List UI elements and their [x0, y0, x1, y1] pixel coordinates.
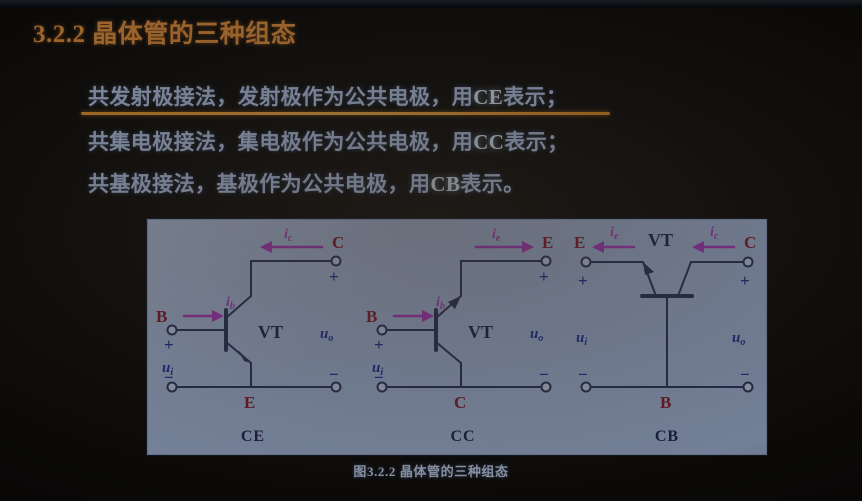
ce-label-ib: ib [226, 295, 235, 312]
body-line-cb-tail: 表示。 [460, 172, 524, 196]
ce-terminal-b [168, 326, 177, 335]
cb-polarity-out-minus: − [740, 365, 750, 384]
cc-polarity-out-plus: + [539, 267, 549, 286]
cb-label-c: C [744, 233, 756, 252]
ce-polarity-in-minus: − [164, 368, 174, 387]
cb-terminal-c [744, 258, 753, 267]
body-line-ce: 共发射极接法，发射极作为公共电极，用CE表示； [88, 81, 567, 111]
page-title-text: 3.2.2 晶体管的三种组态 [33, 21, 296, 48]
cb-label-ie: ie [610, 225, 619, 242]
cc-polarity-in-plus: + [374, 335, 384, 354]
circuit-cc-mode-label: CC [360, 428, 566, 446]
figure-panel: B C E VT ib ic + ui − + uo − CE [147, 219, 767, 455]
slide-canvas: 3.2.2 晶体管的三种组态 共发射极接法，发射极作为公共电极，用CE表示； 共… [0, 0, 862, 501]
circuit-common-base: E C B VT ie ic + ui − + uo − CB [568, 220, 766, 454]
body-line-cc-text: 共集电极接法，集电极作为公共电极，用 [88, 130, 473, 154]
cc-label-b: B [366, 307, 377, 326]
cb-polarity-in-minus: − [578, 365, 588, 384]
body-line-ce-tail: 表示； [503, 85, 567, 109]
ce-terminal-c [332, 257, 341, 266]
cc-label-vt: VT [468, 322, 493, 342]
body-line-cc-emphasis: CC [473, 130, 504, 154]
circuit-common-collector: B E C VT ib ie + ui − + uo − CC [360, 220, 566, 454]
cb-label-ui: ui [576, 330, 587, 348]
body-line-cc: 共集电极接法，集电极作为公共电极，用CC表示； [88, 126, 569, 156]
ce-label-c: C [332, 233, 344, 252]
ce-label-ic: ic [284, 227, 293, 244]
ce-label-b: B [156, 307, 167, 326]
cb-transistor-symbol [642, 262, 692, 296]
ce-polarity-in-plus: + [164, 335, 174, 354]
ce-underline [81, 112, 610, 115]
circuit-ce-mode-label: CE [150, 428, 356, 446]
cc-label-ie: ie [492, 227, 501, 244]
body-line-cb: 共基极接法，基极作为公共电极，用CB表示。 [88, 168, 525, 198]
cc-terminal-e [542, 257, 551, 266]
cc-polarity-in-minus: − [374, 368, 384, 387]
cc-label-e: E [542, 233, 553, 252]
cc-polarity-out-minus: − [539, 365, 549, 384]
cb-arrow-ie [592, 241, 634, 253]
ce-label-uo: uo [320, 326, 333, 344]
cb-arrow-ic [692, 241, 734, 253]
cb-polarity-out-plus: + [740, 271, 750, 290]
circuit-cb-svg: E C B VT ie ic + ui − + uo − [568, 220, 766, 430]
ce-polarity-out-minus: − [329, 365, 339, 384]
figure-caption: 图3.2.2 晶体管的三种组态 [0, 461, 862, 480]
cb-label-uo: uo [732, 330, 745, 348]
body-line-cb-text: 共基极接法，基极作为公共电极，用 [88, 172, 430, 196]
cb-label-vt: VT [648, 230, 673, 250]
cb-label-b: B [660, 393, 671, 412]
body-line-ce-emphasis: CE [473, 85, 503, 109]
cb-label-e: E [574, 233, 585, 252]
cc-arrow-ib [394, 310, 434, 322]
ce-polarity-out-plus: + [329, 267, 339, 286]
circuit-cc-svg: B E C VT ib ie + ui − + uo − [360, 220, 566, 430]
body-line-cb-emphasis: CB [430, 172, 460, 196]
page-title: 3.2.2 晶体管的三种组态 [33, 14, 296, 50]
cc-terminal-b [378, 326, 387, 335]
cc-arrow-ie [476, 241, 534, 253]
ce-label-e: E [244, 393, 255, 412]
circuit-ce-svg: B C E VT ib ic + ui − + uo − [150, 220, 356, 430]
body-line-ce-text: 共发射极接法，发射极作为公共电极，用 [88, 85, 473, 109]
cc-label-ib: ib [436, 295, 445, 312]
cc-label-c: C [454, 393, 466, 412]
ce-label-vt: VT [258, 322, 283, 342]
cb-polarity-in-plus: + [578, 271, 588, 290]
circuit-cb-mode-label: CB [568, 428, 766, 446]
cb-label-ic: ic [710, 225, 719, 242]
circuit-common-emitter: B C E VT ib ic + ui − + uo − CE [150, 220, 356, 454]
cc-label-uo: uo [530, 326, 543, 344]
ce-arrow-ib [184, 310, 224, 322]
cb-terminal-e [582, 258, 591, 267]
body-line-cc-tail: 表示； [504, 130, 568, 154]
